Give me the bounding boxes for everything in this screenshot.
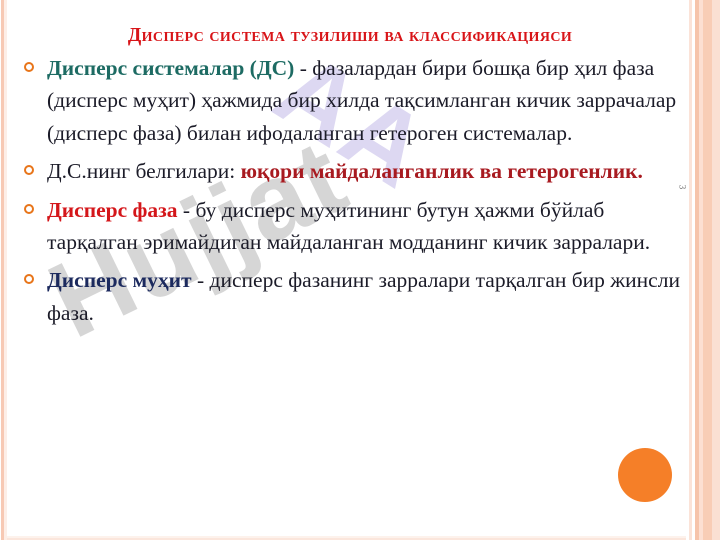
bullet-lead-3: Дисперс фаза [47,198,178,222]
bullet-text-4: Дисперс муҳит - дисперс фазанинг заррала… [47,268,680,324]
bullet-list: Дисперс системалар (ДС) - фазалардан бир… [22,52,694,335]
bullet-item-3: Дисперс фаза - бу дисперс муҳитининг бут… [22,194,694,259]
bullet-lead-2: Д.С.нинг белгилари: [47,159,235,183]
slide-title: Дисперс система тузилиши ва классификаци… [0,25,700,47]
presentation-slide: Hujjat AA 3 Дисперс система тузилиши ва … [0,0,720,540]
bullet-text-2: Д.С.нинг белгилари: юқори майдаланганлик… [47,159,643,183]
bullet-item-2: Д.С.нинг белгилари: юқори майдаланганлик… [22,155,694,187]
bullet-item-1: Дисперс системалар (ДС) - фазалардан бир… [22,52,694,149]
bullet-separator-1: - [294,56,312,80]
left-border-decoration [0,0,7,540]
circle-bullet-icon [24,62,34,72]
bottom-border-decoration [7,536,686,540]
bullet-item-4: Дисперс муҳит - дисперс фазанинг заррала… [22,264,694,329]
bullet-separator-4: - [192,268,210,292]
bullet-text-3: Дисперс фаза - бу дисперс муҳитининг бут… [47,198,650,254]
bullet-lead-1: Дисперс системалар (ДС) [47,56,294,80]
bullet-separator-3: - [178,198,196,222]
circle-bullet-icon [24,165,34,175]
bullet-lead-4: Дисперс муҳит [47,268,192,292]
circle-bullet-icon [24,204,34,214]
bullet-emphasis-2: юқори майдаланганлик ва гетерогенлик. [241,159,643,183]
accent-circle-decoration [618,448,672,502]
circle-bullet-icon [24,274,34,284]
bullet-text-1: Дисперс системалар (ДС) - фазалардан бир… [47,56,676,145]
